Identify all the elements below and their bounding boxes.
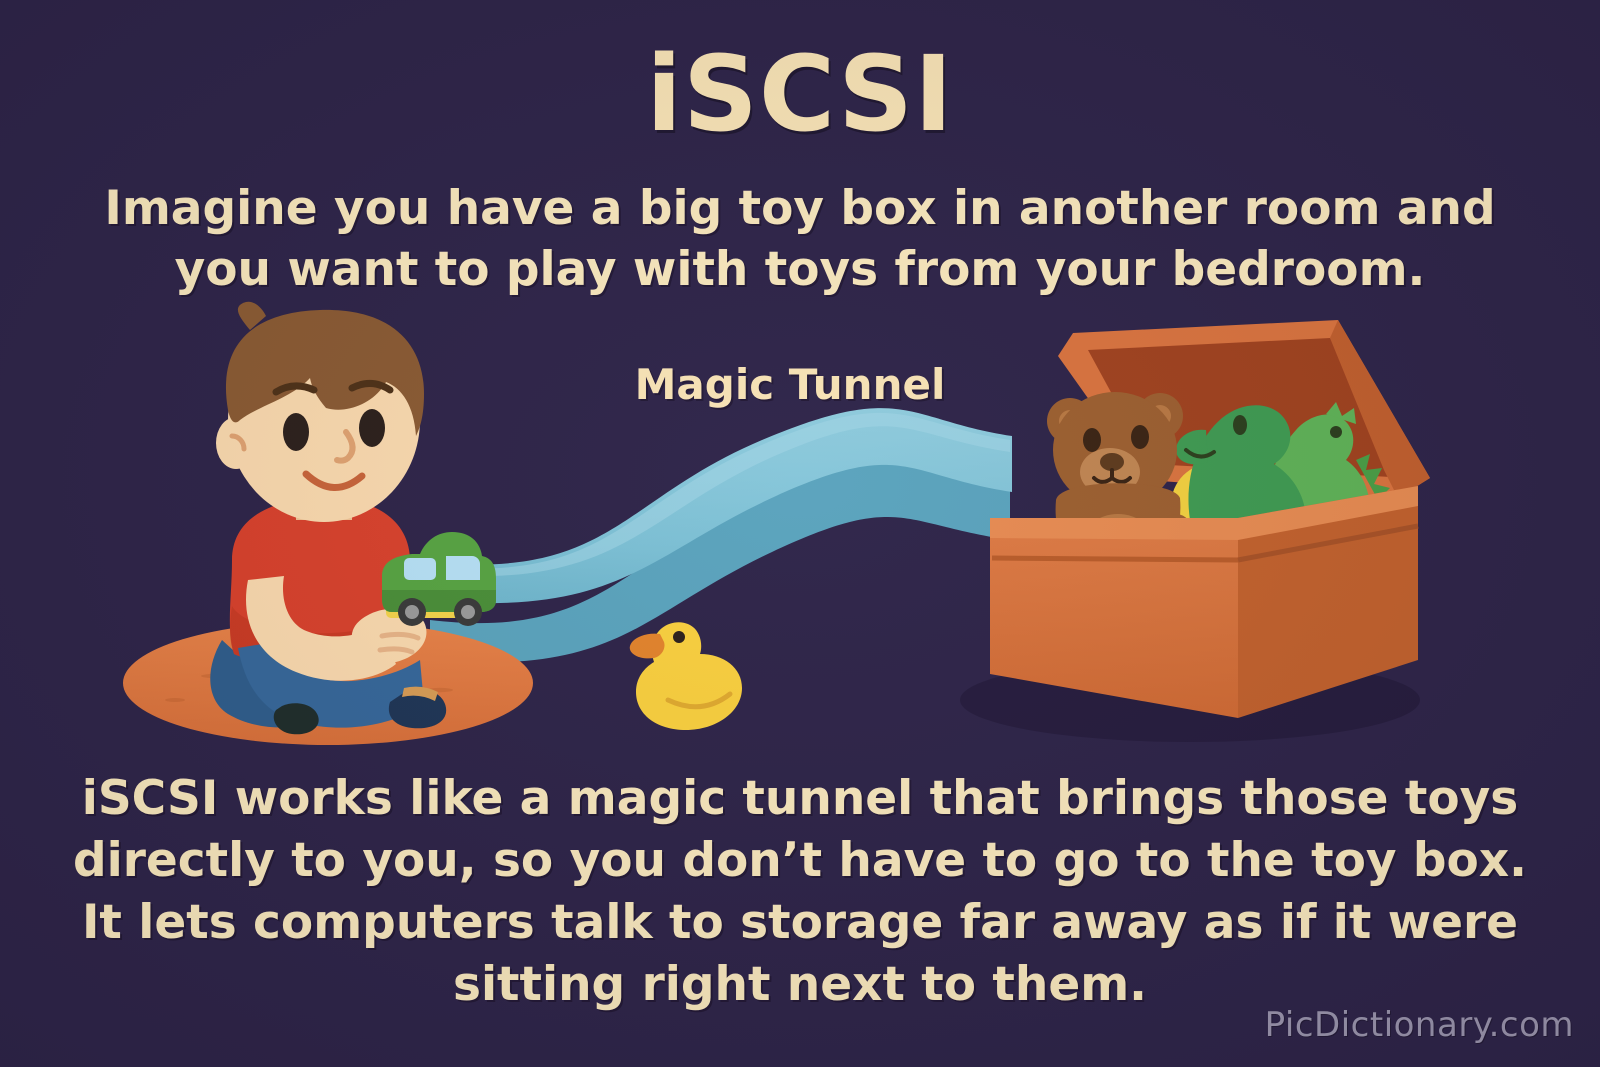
duck-beak [630,634,665,659]
rubber-duck [630,622,742,730]
explanation-text: iSCSI works like a magic tunnel that bri… [70,768,1530,1016]
magic-tunnel-label: Magic Tunnel [520,360,1060,409]
duck-eye [673,631,685,643]
car-window-rear [404,558,436,580]
boy-eye-left [283,413,309,451]
boy-eye-right [359,409,385,447]
boy-ear [216,417,256,469]
infographic-card: iSCSI Imagine you have a big toy box in … [0,0,1600,1067]
boy-character [210,302,446,735]
page-title: iSCSI [0,40,1600,149]
magic-tunnel [430,408,1012,662]
subtitle-text: Imagine you have a big toy box in anothe… [80,178,1520,300]
car-window-front [446,556,480,580]
watermark: PicDictionary.com [1265,1005,1574,1045]
